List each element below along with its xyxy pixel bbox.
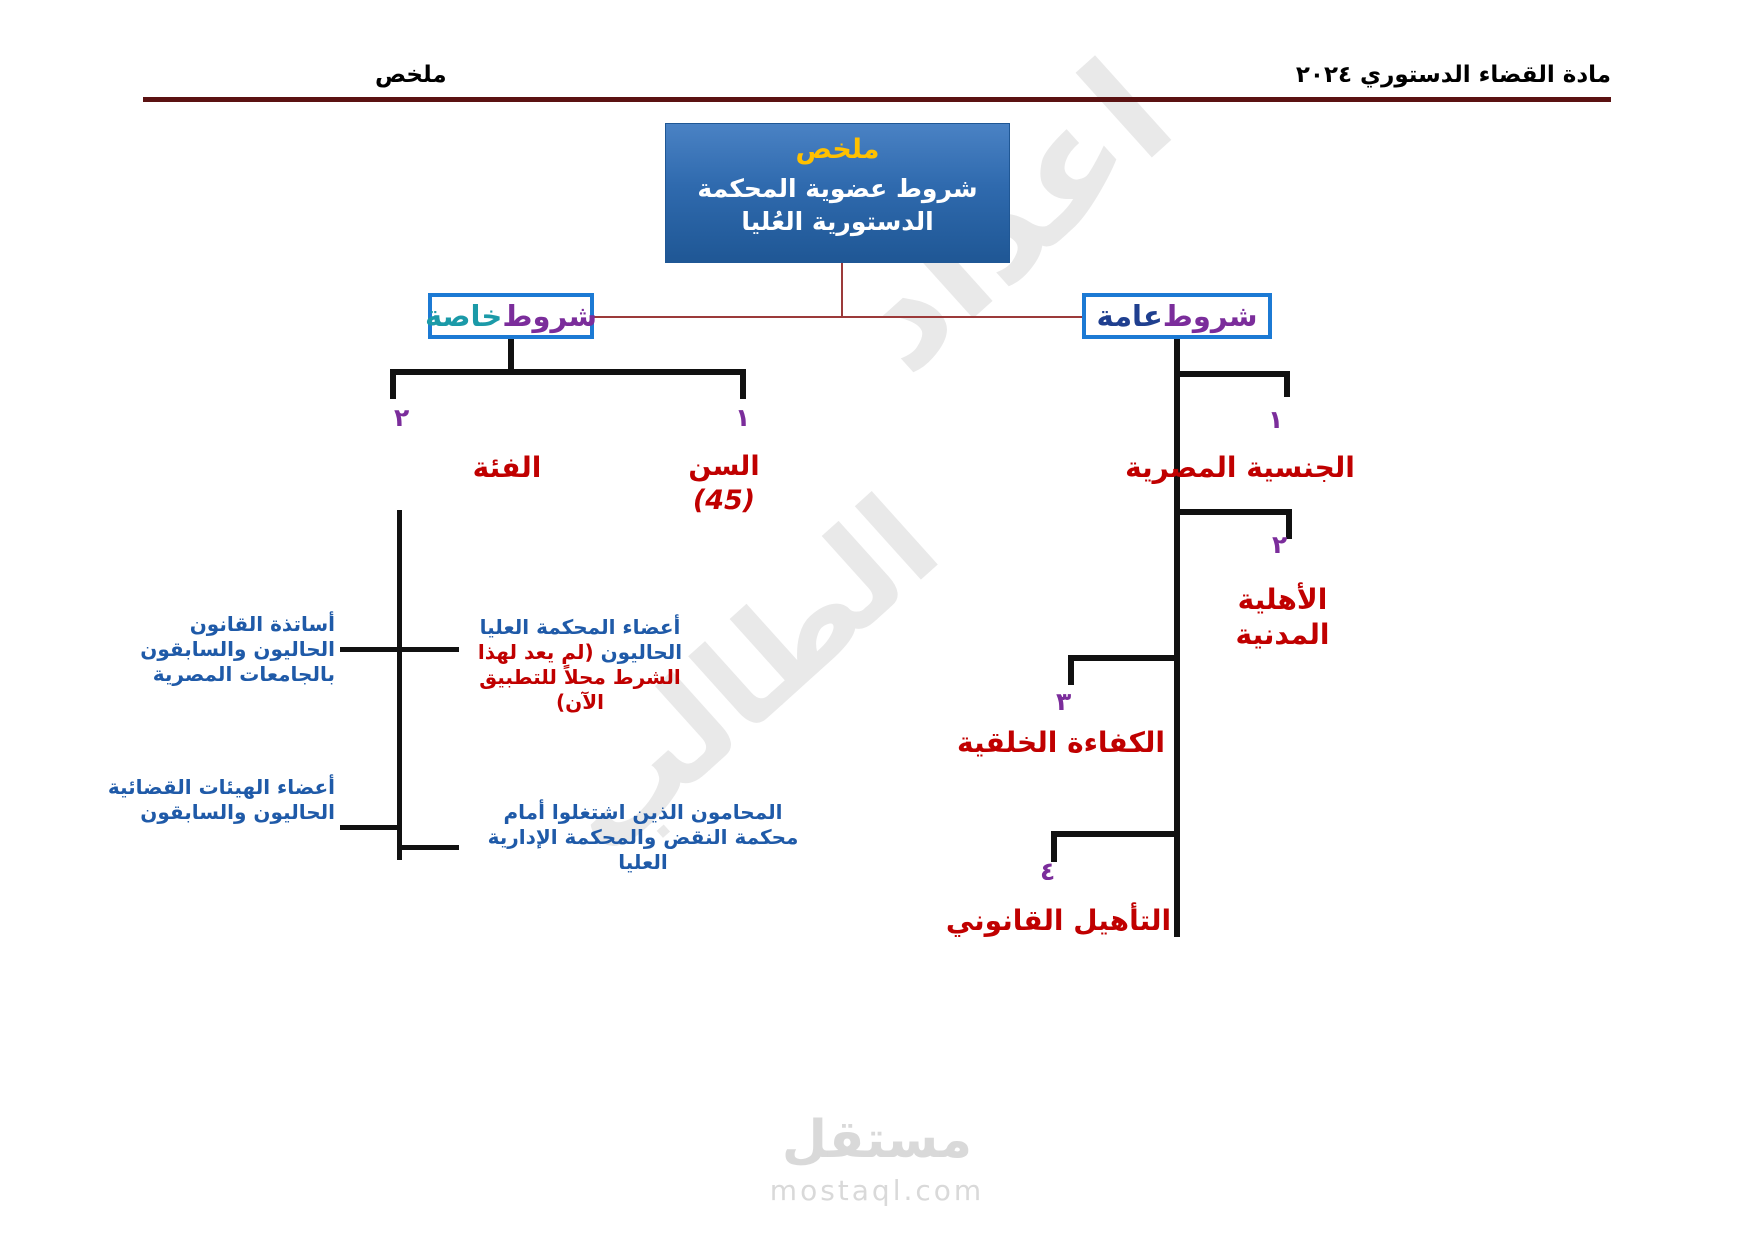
- number-general-1: ١: [1268, 405, 1283, 434]
- special-stem: [508, 339, 514, 372]
- category-branch-members-h: [397, 647, 459, 652]
- general-bracket-3-v: [1068, 655, 1074, 685]
- leaf-moral-competence: الكفاءة الخلقية: [946, 725, 1176, 760]
- root-badge-label: ملخص: [795, 134, 879, 165]
- special-bracket-h: [390, 369, 746, 375]
- branch-special-conditions[interactable]: شروط خاصة: [428, 293, 594, 339]
- leaf-legal-qualification: التأهيل القانوني: [941, 903, 1176, 938]
- general-bracket-2-h: [1174, 509, 1292, 515]
- general-bracket-1-h: [1174, 371, 1290, 377]
- leaf-judicial-bodies-members: أعضاء الهيئات القضائية الحاليون والسابقو…: [105, 775, 335, 825]
- branch-special-word1: شروط: [502, 299, 597, 333]
- header-summary-label: ملخص: [375, 62, 447, 88]
- category-branch-judicial-h: [340, 825, 400, 830]
- mostaql-watermark-logo: مستقل mostaql.com: [770, 1110, 984, 1207]
- root-title-box: ملخص شروط عضوية المحكمة الدستورية العُلي…: [665, 123, 1010, 263]
- leaf-category: الفئة: [422, 450, 592, 485]
- leaf-egyptian-nationality: الجنسية المصرية: [1115, 450, 1365, 485]
- number-general-2: ٢: [1272, 530, 1287, 559]
- special-bracket-right-v: [740, 369, 746, 399]
- category-spine: [397, 510, 402, 860]
- general-bracket-4-h: [1051, 831, 1180, 837]
- general-bracket-3-h: [1068, 655, 1180, 661]
- watermark-logo-latin: mostaql.com: [770, 1174, 984, 1207]
- branch-special-word2: خاصة: [425, 299, 502, 333]
- branch-general-word1: شروط: [1163, 299, 1258, 333]
- number-special-2: ٢: [394, 403, 409, 432]
- root-stem-connector: [841, 263, 843, 317]
- leaf-civil-capacity: الأهلية المدنية: [1215, 582, 1350, 652]
- root-horizontal-connector: [511, 316, 1171, 318]
- leaf-law-professors: أساتذة القانون الحاليون والسابقون بالجام…: [105, 612, 335, 687]
- branch-general-conditions[interactable]: شروط عامة: [1082, 293, 1272, 339]
- general-bracket-1-v: [1284, 371, 1290, 397]
- number-general-3: ٣: [1056, 687, 1071, 716]
- root-title-text: شروط عضوية المحكمة الدستورية العُليا: [666, 173, 1009, 238]
- general-stem: [1174, 339, 1180, 374]
- special-bracket-left-v: [390, 369, 396, 399]
- header-divider: [143, 97, 1611, 102]
- leaf-age: السن (45): [634, 450, 814, 518]
- leaf-age-label: السن: [634, 450, 814, 484]
- number-general-4: ٤: [1040, 857, 1055, 886]
- branch-general-word2: عامة: [1097, 299, 1163, 333]
- leaf-current-supreme-court-members: أعضاء المحكمة العليا الحاليون (لم يعد له…: [470, 615, 690, 715]
- watermark-logo-arabic: مستقل: [770, 1110, 984, 1170]
- leaf-age-value: (45): [634, 484, 814, 518]
- diagram-page: اعداد الطالب مستقل mostaql.com مادة القض…: [0, 0, 1754, 1241]
- number-special-1: ١: [735, 403, 750, 432]
- category-branch-professors-h: [340, 647, 400, 652]
- category-branch-lawyers-h: [397, 845, 459, 850]
- header-course-title: مادة القضاء الدستوري ٢٠٢٤: [1296, 62, 1611, 88]
- leaf-lawyers: المحامون الذين اشتغلوا أمام محكمة النقض …: [478, 800, 808, 875]
